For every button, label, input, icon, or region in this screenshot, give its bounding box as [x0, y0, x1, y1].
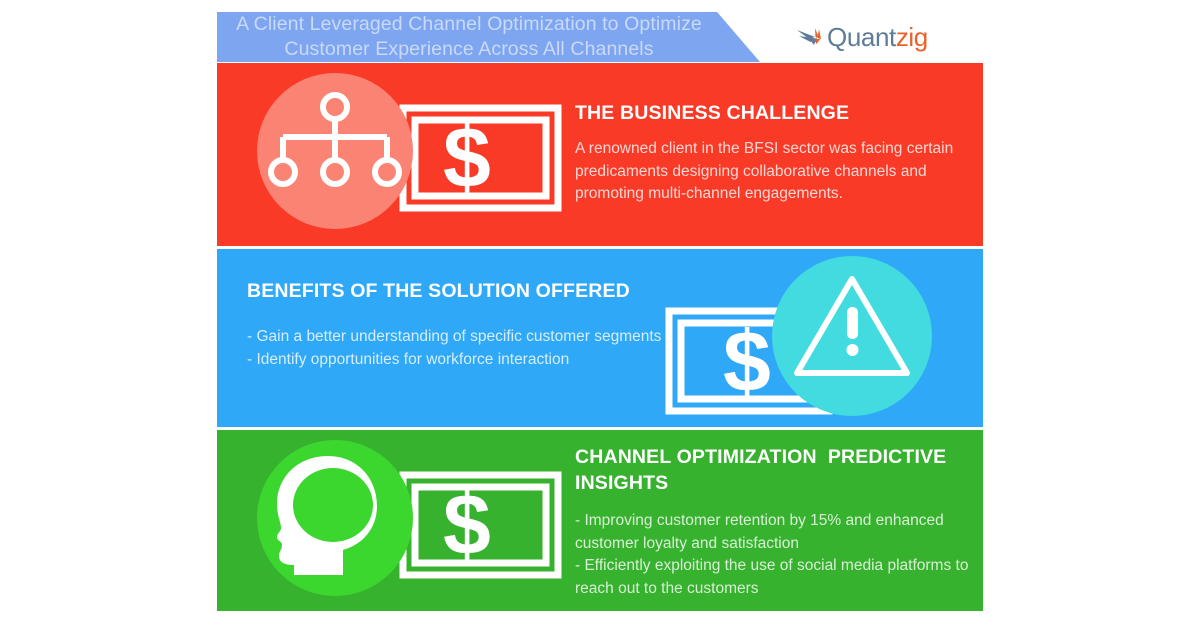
benefits-bullet-2: - Identify opportunities for workforce i… — [247, 349, 667, 372]
infographic-canvas: A Client Leveraged Channel Optimization … — [0, 0, 1200, 627]
page-title: A Client Leveraged Channel Optimization … — [217, 12, 717, 62]
benefits-heading: BENEFITS OF THE SOLUTION OFFERED — [247, 278, 667, 304]
quantzig-fan-logo-icon — [795, 25, 825, 49]
page-title-line-2: Customer Experience Across All Channels — [221, 37, 717, 62]
header-banner: A Client Leveraged Channel Optimization … — [217, 12, 760, 62]
panel-predictive-insights: $ CHANNEL OPTIMIZATION PREDICTIVE INSIGH… — [217, 430, 983, 611]
benefits-bullet-1: - Gain a better understanding of specifi… — [247, 326, 667, 349]
banknote-dollar-icon: $ — [403, 108, 558, 208]
predictive-insights-illustration: $ — [225, 432, 565, 611]
business-challenge-heading: THE BUSINESS CHALLENGE — [575, 100, 965, 126]
brand-logo-text-quant: Quant — [827, 22, 896, 52]
svg-text:$: $ — [443, 110, 491, 206]
predictive-insights-bullet-2: - Efficiently exploiting the use of soci… — [575, 555, 983, 600]
business-challenge-body: A renowned client in the BFSI sector was… — [575, 138, 965, 206]
svg-text:$: $ — [723, 314, 771, 410]
banknote-dollar-icon: $ — [403, 475, 558, 575]
brand-logo: Quantzig — [795, 22, 928, 52]
page-title-line-1: A Client Leveraged Channel Optimization … — [221, 12, 717, 37]
benefits-body: - Gain a better understanding of specifi… — [247, 326, 667, 371]
svg-text:$: $ — [443, 477, 491, 573]
benefits-illustration: $ — [657, 251, 983, 427]
predictive-insights-text: CHANNEL OPTIMIZATION PREDICTIVE INSIGHTS… — [575, 444, 983, 600]
brand-logo-text: Quantzig — [827, 24, 928, 50]
predictive-insights-body: - Improving customer retention by 15% an… — [575, 510, 983, 600]
benefits-text: BENEFITS OF THE SOLUTION OFFERED - Gain … — [247, 278, 667, 371]
predictive-insights-heading: CHANNEL OPTIMIZATION PREDICTIVE INSIGHTS — [575, 444, 975, 496]
business-challenge-text: THE BUSINESS CHALLENGE A renowned client… — [575, 100, 965, 206]
business-challenge-illustration: $ — [225, 65, 565, 245]
business-challenge-paragraph: A renowned client in the BFSI sector was… — [575, 138, 965, 206]
brand-logo-text-zig: zig — [896, 22, 928, 52]
panel-benefits-of-solution: BENEFITS OF THE SOLUTION OFFERED - Gain … — [217, 249, 983, 427]
predictive-insights-bullet-1: - Improving customer retention by 15% an… — [575, 510, 983, 555]
panel-business-challenge: $ THE B — [217, 63, 983, 246]
